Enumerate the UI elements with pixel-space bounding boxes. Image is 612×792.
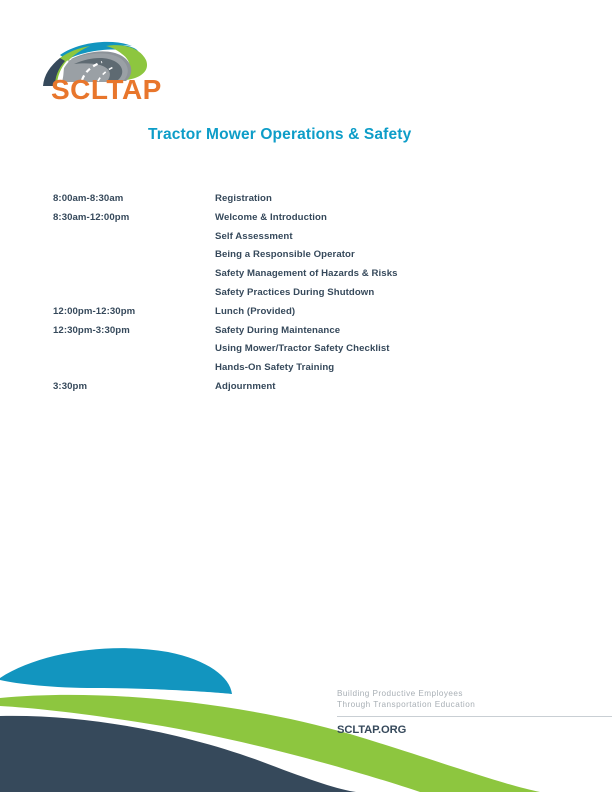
schedule-item: Being a Responsible Operator xyxy=(215,246,523,265)
document-page: SCLTAP Tractor Mower Operations & Safety… xyxy=(0,0,612,792)
footer-tagline-line-1: Building Productive Employees xyxy=(337,688,612,699)
schedule-row: 12:00pm-12:30pm Lunch (Provided) xyxy=(53,303,523,322)
schedule-row: 3:30pm Adjournment xyxy=(53,378,523,397)
footer-website-url: SCLTAP.ORG xyxy=(337,724,612,736)
footer-block: Building Productive Employees Through Tr… xyxy=(337,688,612,736)
schedule-time: 8:00am-8:30am xyxy=(53,190,215,209)
schedule-item: Registration xyxy=(215,190,523,209)
schedule-row: 12:30pm-3:30pm Safety During Maintenance xyxy=(53,322,523,341)
footer-divider xyxy=(337,716,612,717)
schedule-time: 8:30am-12:00pm xyxy=(53,209,215,228)
schedule-row: Hands-On Safety Training xyxy=(53,359,523,378)
footer-tagline-line-2: Through Transportation Education xyxy=(337,699,612,710)
schedule-item: Hands-On Safety Training xyxy=(215,359,523,378)
schedule-row: 8:30am-12:00pm Welcome & Introduction xyxy=(53,209,523,228)
schedule-row: Safety Practices During Shutdown xyxy=(53,284,523,303)
schedule-row: Using Mower/Tractor Safety Checklist xyxy=(53,340,523,359)
schedule-item: Welcome & Introduction xyxy=(215,209,523,228)
schedule-time xyxy=(53,340,215,359)
schedule-item: Lunch (Provided) xyxy=(215,303,523,322)
swoosh-navy xyxy=(0,716,356,792)
schedule-list: 8:00am-8:30am Registration 8:30am-12:00p… xyxy=(53,190,523,397)
swoosh-teal xyxy=(0,648,232,694)
schedule-row: Safety Management of Hazards & Risks xyxy=(53,265,523,284)
schedule-row: Self Assessment xyxy=(53,228,523,247)
schedule-time xyxy=(53,359,215,378)
schedule-item: Safety Practices During Shutdown xyxy=(215,284,523,303)
schedule-row: 8:00am-8:30am Registration xyxy=(53,190,523,209)
schedule-item: Using Mower/Tractor Safety Checklist xyxy=(215,340,523,359)
page-title: Tractor Mower Operations & Safety xyxy=(148,126,411,144)
schedule-time xyxy=(53,246,215,265)
schedule-item: Safety Management of Hazards & Risks xyxy=(215,265,523,284)
brand-wordmark: SCLTAP xyxy=(51,76,162,104)
schedule-time: 3:30pm xyxy=(53,378,215,397)
schedule-time: 12:00pm-12:30pm xyxy=(53,303,215,322)
schedule-time: 12:30pm-3:30pm xyxy=(53,322,215,341)
schedule-time xyxy=(53,228,215,247)
schedule-row: Being a Responsible Operator xyxy=(53,246,523,265)
schedule-item: Adjournment xyxy=(215,378,523,397)
schedule-time xyxy=(53,284,215,303)
schedule-time xyxy=(53,265,215,284)
brand-logo: SCLTAP xyxy=(38,28,168,110)
schedule-item: Safety During Maintenance xyxy=(215,322,523,341)
schedule-item: Self Assessment xyxy=(215,228,523,247)
